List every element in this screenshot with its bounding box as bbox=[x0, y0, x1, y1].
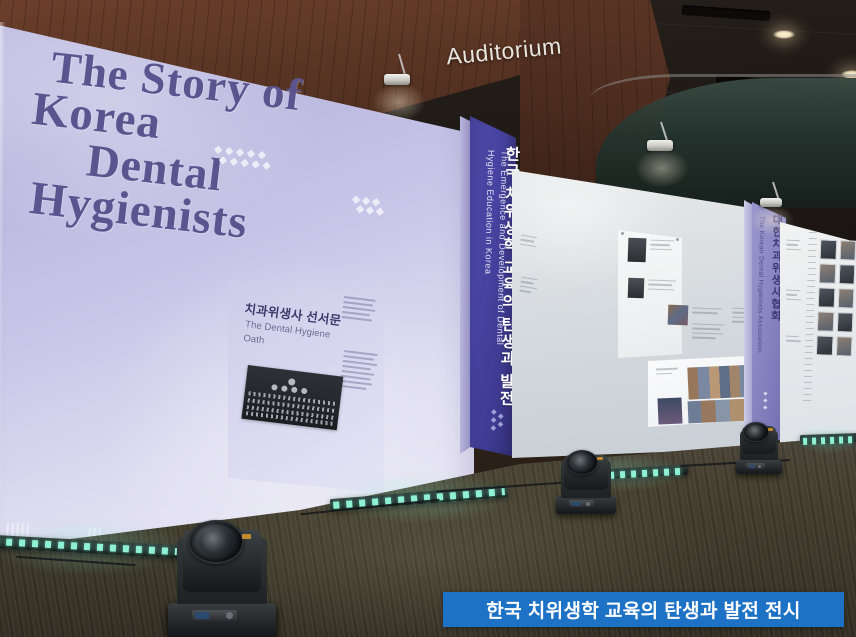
board-caption-text bbox=[648, 279, 678, 293]
wall-right-text bbox=[786, 290, 803, 304]
wall-right-text bbox=[786, 336, 802, 346]
historical-group-photo bbox=[241, 365, 343, 430]
board-caption-text bbox=[650, 240, 676, 254]
oath-body-text-block bbox=[339, 350, 380, 394]
poster-title-text bbox=[656, 367, 680, 377]
moving-head-light bbox=[556, 452, 616, 514]
pillar-primary-title-en: The Emergence and Development of Dental … bbox=[478, 150, 511, 381]
moving-head-light bbox=[736, 424, 782, 474]
archive-photo bbox=[628, 278, 645, 299]
curve-trim bbox=[590, 74, 856, 99]
pillar-secondary-side bbox=[744, 200, 753, 442]
board-body-text bbox=[692, 323, 727, 342]
banner-title: The Story of Korea Dental Hygienists bbox=[20, 44, 378, 259]
board-caption-text bbox=[692, 307, 724, 317]
poster-photo-small bbox=[657, 398, 682, 425]
moving-head-light bbox=[168, 524, 276, 637]
archive-photo-color bbox=[668, 305, 689, 326]
ceiling-slot-light bbox=[682, 5, 770, 21]
caption-text: 한국 치위생학 교육의 탄생과 발전 전시 bbox=[486, 596, 800, 623]
poster-photo-collage-secondary bbox=[688, 399, 749, 424]
oath-body-text-block bbox=[341, 296, 378, 325]
wall-left-text bbox=[519, 277, 540, 297]
exhibition-photo-scene: Auditorium The Story of Korea Dental Hyg… bbox=[0, 0, 856, 637]
wall-right-text bbox=[786, 240, 803, 254]
recessed-downlight bbox=[773, 30, 795, 39]
wall-left-text bbox=[519, 235, 539, 251]
caption-bar: 한국 치위생학 교육의 탄생과 발전 전시 bbox=[443, 592, 844, 627]
led-wash-bar bbox=[800, 433, 856, 444]
photo-grid-display bbox=[816, 239, 856, 360]
archive-photo bbox=[628, 238, 647, 263]
